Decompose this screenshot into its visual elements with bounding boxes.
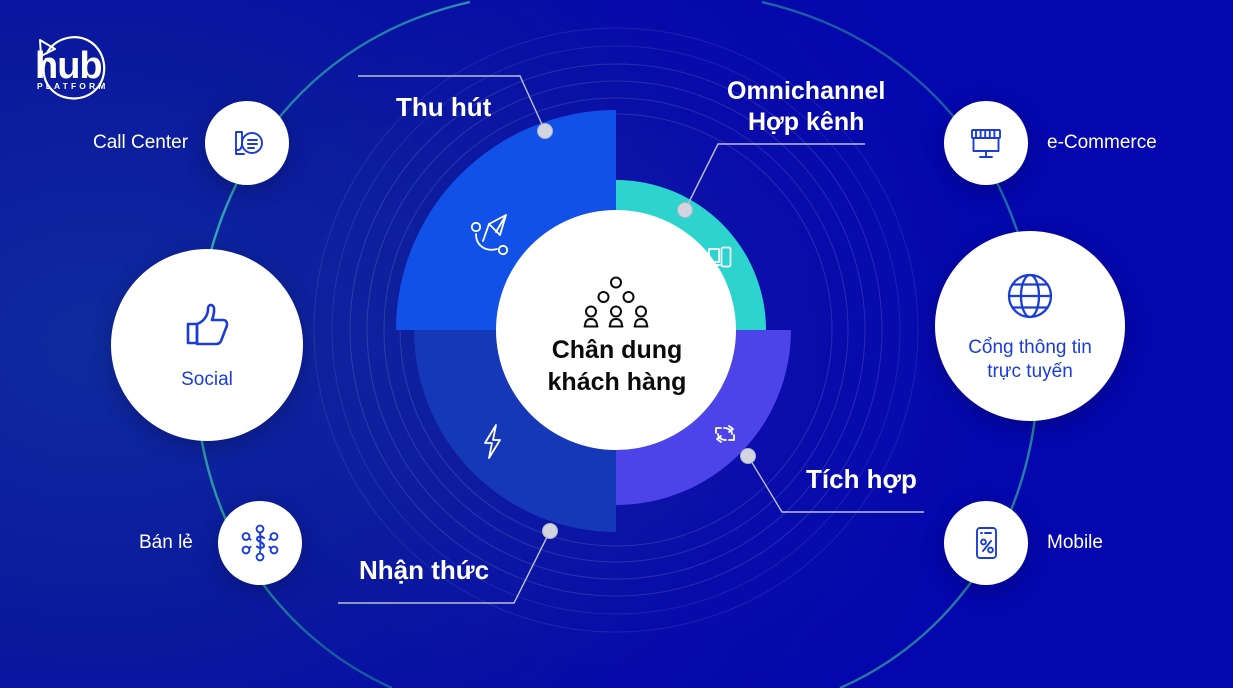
center-title-line2: khách hàng (506, 367, 728, 399)
infographic-canvas: hub PLATFORM Call Center (0, 0, 1233, 688)
people-group-icon (585, 278, 648, 327)
center-title-line1: Chân dung (506, 335, 728, 367)
center-title: Chân dung khách hàng (506, 335, 728, 398)
